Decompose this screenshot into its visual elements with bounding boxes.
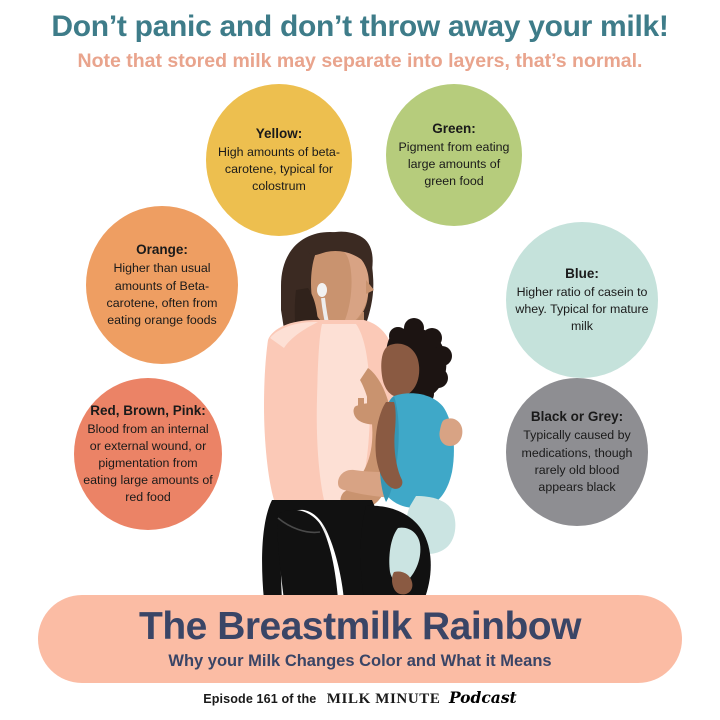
bubble-yellow-body: High amounts of beta-carotene, typical f… [214,144,344,195]
bubble-blue-body: Higher ratio of casein to whey. Typical … [514,284,650,335]
podcast-brand-name: MILK MINUTE [327,691,441,707]
episode-credit: Episode 161 of the MILK MINUTE Podcast [0,688,720,708]
bubble-red-brown-pink[interactable]: Red, Brown, Pink: Blood from an internal… [74,378,222,530]
podcast-script-word: Podcast [449,688,517,707]
title-banner: The Breastmilk Rainbow Why your Milk Cha… [38,595,682,683]
bubble-orange-body: Higher than usual amounts of Beta-carote… [94,260,230,328]
bubble-grey-title: Black or Grey: [531,408,623,426]
banner-subtitle: Why your Milk Changes Color and What it … [168,652,551,671]
bubble-red-title: Red, Brown, Pink: [90,402,206,420]
bubble-green-body: Pigment from eating large amounts of gre… [394,139,514,190]
bubble-orange[interactable]: Orange: Higher than usual amounts of Bet… [86,206,238,364]
bubble-yellow-title: Yellow: [256,125,303,143]
bubble-green-title: Green: [432,120,476,138]
mother-holding-baby-illustration [248,228,486,600]
bubble-blue-title: Blue: [565,265,599,283]
bubble-grey-body: Typically caused by medications, though … [514,427,640,495]
bubble-red-body: Blood from an internal or external wound… [82,421,214,507]
header: Don’t panic and don’t throw away your mi… [0,0,720,73]
bubble-yellow[interactable]: Yellow: High amounts of beta-carotene, t… [206,84,352,236]
banner-title: The Breastmilk Rainbow [139,607,581,648]
bubble-black-or-grey[interactable]: Black or Grey: Typically caused by medic… [506,378,648,526]
bubble-orange-title: Orange: [136,241,188,259]
bubble-blue[interactable]: Blue: Higher ratio of casein to whey. Ty… [506,222,658,378]
header-title: Don’t panic and don’t throw away your mi… [0,10,720,45]
episode-number-text: Episode 161 of the [203,692,316,706]
bubble-green[interactable]: Green: Pigment from eating large amounts… [386,84,522,226]
infographic-root: Don’t panic and don’t throw away your mi… [0,0,720,720]
header-subtitle: Note that stored milk may separate into … [0,50,720,73]
